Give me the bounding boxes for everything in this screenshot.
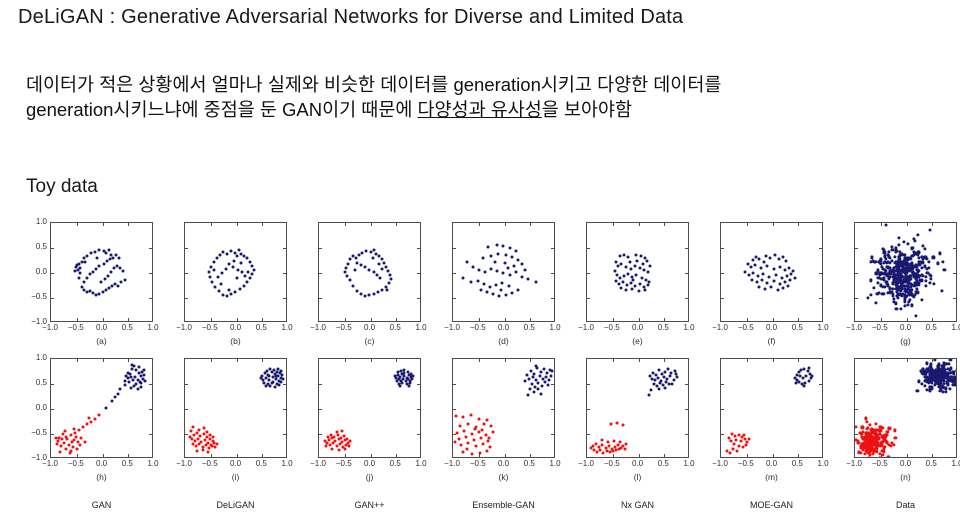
data-point	[630, 282, 633, 285]
data-point	[732, 448, 735, 451]
data-point	[324, 440, 327, 443]
data-point	[540, 385, 543, 388]
y-tick-mark	[185, 384, 188, 385]
data-point	[640, 277, 643, 280]
panel-caption: Ensemble-GAN	[452, 500, 555, 510]
y-tick-mark	[819, 384, 822, 385]
data-point	[529, 388, 532, 391]
x-tick-mark	[932, 223, 933, 226]
data-point	[83, 261, 86, 264]
data-point	[488, 437, 491, 440]
plot-area	[854, 358, 957, 458]
y-tick-label: 1.0	[36, 353, 47, 362]
data-point	[130, 387, 133, 390]
data-point	[938, 252, 941, 255]
data-point	[635, 274, 638, 277]
y-tick-mark	[51, 273, 54, 274]
data-point	[768, 276, 771, 279]
data-point	[340, 430, 343, 433]
data-point	[385, 289, 388, 292]
data-point	[619, 447, 622, 450]
data-point	[590, 447, 593, 450]
data-point	[803, 385, 806, 388]
data-point	[485, 291, 488, 294]
data-point	[870, 256, 873, 259]
data-point	[743, 271, 746, 274]
data-point	[783, 281, 786, 284]
data-point	[411, 375, 414, 378]
x-tick-mark	[613, 223, 614, 226]
data-point	[372, 293, 375, 296]
data-point	[733, 443, 736, 446]
data-point	[770, 286, 773, 289]
x-tick-mark	[371, 318, 372, 321]
x-tick-label: −1.0	[578, 459, 594, 468]
data-point	[462, 277, 465, 280]
data-point	[460, 444, 463, 447]
data-point	[269, 385, 272, 388]
data-point	[506, 267, 509, 270]
y-tick-mark	[685, 409, 688, 410]
data-point	[102, 263, 105, 266]
x-tick-label: 1.0	[147, 459, 158, 468]
y-tick-mark	[721, 434, 724, 435]
y-tick-mark	[51, 384, 54, 385]
data-point	[527, 394, 530, 397]
y-tick-mark	[819, 298, 822, 299]
data-point	[622, 281, 625, 284]
data-point	[69, 434, 72, 437]
panel-letter: (l)	[586, 472, 689, 482]
x-tick-mark	[907, 454, 908, 457]
data-point	[669, 375, 672, 378]
x-tick-label: 0.0	[498, 459, 509, 468]
y-axis-tick-labels: −1.0−0.50.00.51.0	[23, 352, 47, 464]
x-tick-mark	[747, 359, 748, 362]
data-point	[658, 369, 661, 372]
data-point	[730, 440, 733, 443]
data-point	[348, 440, 351, 443]
data-point	[337, 449, 340, 452]
y-tick-mark	[149, 409, 152, 410]
y-tick-mark	[953, 434, 956, 435]
data-point	[751, 272, 754, 275]
data-point	[368, 294, 371, 297]
data-point	[365, 250, 368, 253]
y-tick-mark	[149, 273, 152, 274]
x-axis-tick-labels: −1.0−0.50.00.51.0	[577, 459, 698, 471]
x-tick-mark	[530, 359, 531, 362]
data-point	[667, 368, 670, 371]
data-point	[466, 448, 469, 451]
data-point	[111, 257, 114, 260]
x-tick-label: 0.5	[658, 459, 669, 468]
y-tick-mark	[417, 298, 420, 299]
x-tick-mark	[211, 223, 212, 226]
x-tick-label: 0.0	[900, 459, 911, 468]
data-point	[508, 247, 511, 250]
data-point	[637, 290, 640, 293]
data-point	[104, 407, 107, 410]
data-point	[606, 441, 609, 444]
data-point	[116, 285, 119, 288]
data-point	[142, 369, 145, 372]
data-point	[514, 271, 517, 274]
data-point	[807, 380, 810, 383]
data-point	[794, 277, 797, 280]
y-tick-label: 0.5	[36, 242, 47, 251]
y-tick-mark	[551, 384, 554, 385]
x-axis-tick-labels: −1.0−0.50.00.51.0	[845, 459, 960, 471]
data-point	[728, 437, 731, 440]
data-point	[455, 415, 458, 418]
data-point	[380, 268, 383, 271]
y-tick-mark	[721, 273, 724, 274]
data-point	[502, 245, 505, 248]
data-point	[932, 282, 935, 285]
data-point	[248, 261, 251, 264]
data-point	[325, 445, 328, 448]
data-point	[674, 373, 677, 376]
data-point	[635, 254, 638, 257]
x-tick-label: −0.5	[470, 459, 486, 468]
data-point	[110, 400, 113, 403]
data-point	[790, 273, 793, 276]
x-tick-label: −0.5	[604, 459, 620, 468]
y-tick-mark	[721, 409, 724, 410]
x-tick-mark	[211, 318, 212, 321]
data-point	[348, 258, 351, 261]
x-tick-mark	[798, 318, 799, 321]
data-point	[545, 372, 548, 375]
data-point	[924, 279, 927, 282]
y-tick-mark	[551, 298, 554, 299]
x-tick-mark	[639, 318, 640, 321]
data-point	[872, 286, 875, 289]
data-point	[243, 275, 246, 278]
data-point	[130, 376, 133, 379]
data-point	[89, 273, 92, 276]
data-point	[245, 281, 248, 284]
data-point	[792, 270, 795, 273]
data-point	[237, 249, 240, 252]
data-point	[335, 431, 338, 434]
data-point	[492, 293, 495, 296]
data-point	[884, 224, 887, 227]
x-tick-mark	[747, 318, 748, 321]
x-tick-label: −0.5	[604, 323, 620, 332]
data-point	[504, 254, 507, 257]
data-point	[894, 429, 897, 432]
y-tick-mark	[417, 409, 420, 410]
data-point	[109, 271, 112, 274]
y-tick-mark	[453, 248, 456, 249]
data-point	[765, 255, 768, 258]
data-point	[481, 443, 484, 446]
data-point	[542, 368, 545, 371]
x-axis-tick-labels: −1.0−0.50.00.51.0	[41, 323, 162, 335]
x-tick-mark	[77, 223, 78, 226]
y-tick-mark	[953, 409, 956, 410]
plot-area	[184, 358, 287, 458]
x-tick-label: 0.0	[766, 459, 777, 468]
y-tick-mark	[51, 248, 54, 249]
data-point	[916, 390, 919, 393]
y-tick-mark	[855, 298, 858, 299]
data-point	[944, 390, 947, 393]
x-tick-label: −1.0	[310, 323, 326, 332]
data-point	[639, 255, 642, 258]
data-point	[764, 288, 767, 291]
data-point	[924, 284, 927, 287]
data-point	[510, 292, 513, 295]
x-tick-label: 0.0	[230, 323, 241, 332]
x-tick-mark	[639, 359, 640, 362]
data-point	[106, 275, 109, 278]
data-point	[239, 262, 242, 265]
data-point	[125, 375, 128, 378]
data-point	[756, 281, 759, 284]
x-tick-label: 1.0	[683, 459, 694, 468]
data-point	[65, 448, 68, 451]
y-tick-label: −0.5	[31, 428, 47, 437]
panel-letter: (e)	[586, 336, 689, 346]
y-tick-mark	[283, 248, 286, 249]
data-point	[124, 384, 127, 387]
data-point	[618, 277, 621, 280]
x-tick-mark	[881, 223, 882, 226]
data-point	[490, 255, 493, 258]
data-point	[549, 375, 552, 378]
data-point	[911, 246, 914, 249]
data-point	[550, 370, 553, 373]
x-tick-mark	[505, 454, 506, 457]
data-point	[524, 269, 527, 272]
panel-letter: (h)	[50, 472, 153, 482]
x-tick-label: −0.5	[336, 459, 352, 468]
data-point	[60, 445, 63, 448]
data-point	[510, 256, 513, 259]
data-point	[473, 428, 476, 431]
data-point	[929, 229, 932, 232]
data-point	[139, 386, 142, 389]
data-point	[105, 260, 108, 263]
data-point	[766, 265, 769, 268]
data-point	[615, 422, 618, 425]
y-tick-mark	[417, 273, 420, 274]
data-point	[198, 429, 201, 432]
data-point	[758, 258, 761, 261]
data-point	[92, 271, 95, 274]
data-point	[482, 423, 485, 426]
x-tick-label: 0.5	[524, 323, 535, 332]
data-point	[210, 281, 213, 284]
x-tick-mark	[505, 318, 506, 321]
data-point	[645, 260, 648, 263]
x-tick-label: 1.0	[147, 323, 158, 332]
x-tick-label: 0.5	[926, 459, 937, 468]
y-tick-mark	[819, 273, 822, 274]
data-point	[389, 274, 392, 277]
x-tick-label: 0.5	[122, 459, 133, 468]
data-point	[212, 269, 215, 272]
data-point	[72, 428, 75, 431]
panel-letter: (b)	[184, 336, 287, 346]
x-tick-label: 0.0	[900, 323, 911, 332]
data-point	[914, 314, 917, 317]
data-point	[760, 267, 763, 270]
data-point	[480, 429, 483, 432]
data-point	[98, 414, 101, 417]
data-point	[388, 282, 391, 285]
data-point	[469, 414, 472, 417]
data-point	[622, 424, 625, 427]
y-tick-mark	[185, 298, 188, 299]
data-point	[784, 260, 787, 263]
data-point	[346, 263, 349, 266]
section-title-toy-data: Toy data	[26, 176, 98, 198]
data-point	[769, 257, 772, 260]
y-tick-mark	[551, 434, 554, 435]
data-point	[504, 294, 507, 297]
data-point	[778, 283, 781, 286]
data-point	[64, 430, 67, 433]
data-point	[202, 427, 205, 430]
y-tick-mark	[721, 248, 724, 249]
x-tick-label: −0.5	[336, 323, 352, 332]
data-point	[479, 289, 482, 292]
y-tick-mark	[685, 298, 688, 299]
data-point	[94, 251, 97, 254]
data-point	[467, 442, 470, 445]
x-tick-mark	[639, 223, 640, 226]
data-point	[208, 276, 211, 279]
data-point	[887, 455, 890, 458]
x-tick-label: 0.5	[658, 323, 669, 332]
data-point	[537, 388, 540, 391]
y-tick-label: 0.0	[36, 267, 47, 276]
x-tick-mark	[262, 318, 263, 321]
panel-letter: (f)	[720, 336, 823, 346]
page-title: DeLiGAN : Generative Adversarial Network…	[18, 6, 683, 29]
data-point	[232, 266, 235, 269]
data-point	[217, 290, 220, 293]
data-point	[462, 451, 465, 454]
data-point	[466, 261, 469, 264]
y-tick-mark	[855, 273, 858, 274]
y-tick-mark	[551, 273, 554, 274]
x-tick-mark	[237, 318, 238, 321]
x-tick-mark	[103, 454, 104, 457]
x-tick-mark	[747, 223, 748, 226]
data-point	[469, 281, 472, 284]
data-point	[481, 257, 484, 260]
x-tick-mark	[773, 223, 774, 226]
x-axis-tick-labels: −1.0−0.50.00.51.0	[309, 323, 430, 335]
data-point	[463, 430, 466, 433]
data-point	[618, 441, 621, 444]
data-point	[630, 268, 633, 271]
x-tick-label: −1.0	[176, 459, 192, 468]
y-tick-mark	[953, 248, 956, 249]
x-axis-tick-labels: −1.0−0.50.00.51.0	[175, 459, 296, 471]
data-point	[495, 284, 498, 287]
data-point	[403, 369, 406, 372]
data-point	[371, 257, 374, 260]
data-point	[377, 263, 380, 266]
data-point	[763, 261, 766, 264]
x-tick-mark	[932, 454, 933, 457]
data-point	[384, 266, 387, 269]
y-tick-mark	[587, 434, 590, 435]
y-tick-mark	[685, 434, 688, 435]
y-tick-mark	[319, 298, 322, 299]
data-point	[874, 261, 877, 264]
data-point	[221, 272, 224, 275]
x-tick-mark	[77, 454, 78, 457]
data-point	[789, 279, 792, 282]
data-point	[470, 433, 473, 436]
data-point	[77, 429, 80, 432]
data-point	[487, 246, 490, 249]
data-point	[917, 234, 920, 237]
data-point	[854, 426, 857, 429]
data-point	[235, 255, 238, 258]
slide-root: DeLiGAN : Generative Adversarial Network…	[0, 0, 960, 517]
x-tick-mark	[664, 223, 665, 226]
x-tick-label: 0.0	[230, 459, 241, 468]
data-point	[913, 293, 916, 296]
x-tick-mark	[396, 223, 397, 226]
data-point	[490, 268, 493, 271]
data-point	[643, 289, 646, 292]
data-point	[749, 266, 752, 269]
y-tick-label: −1.0	[31, 317, 47, 326]
data-point	[799, 375, 802, 378]
data-point	[113, 396, 116, 399]
data-point	[795, 382, 798, 385]
x-tick-mark	[211, 359, 212, 362]
data-point	[347, 445, 350, 448]
data-point	[956, 368, 957, 371]
data-point	[753, 264, 756, 267]
data-point	[208, 434, 211, 437]
y-axis-tick-labels: −1.0−0.50.00.51.0	[23, 216, 47, 328]
toy-data-figure: −1.0−0.50.00.51.0−1.0−0.50.00.51.0(a)−1.…	[0, 212, 960, 517]
data-point	[119, 267, 122, 270]
data-point	[675, 376, 678, 379]
data-point	[646, 271, 649, 274]
data-point	[104, 252, 107, 255]
data-point	[496, 270, 499, 273]
data-point	[741, 446, 744, 449]
x-tick-label: −1.0	[846, 459, 862, 468]
x-tick-mark	[907, 359, 908, 362]
plot-area	[50, 358, 153, 458]
data-point	[671, 383, 674, 386]
data-point	[786, 285, 789, 288]
data-point	[492, 431, 495, 434]
data-point	[627, 273, 630, 276]
y-tick-mark	[185, 434, 188, 435]
data-point	[949, 387, 952, 390]
x-tick-mark	[128, 359, 129, 362]
data-point	[778, 266, 781, 269]
data-point	[94, 418, 97, 421]
data-point	[380, 289, 383, 292]
data-point	[929, 390, 932, 393]
data-point	[226, 295, 229, 298]
